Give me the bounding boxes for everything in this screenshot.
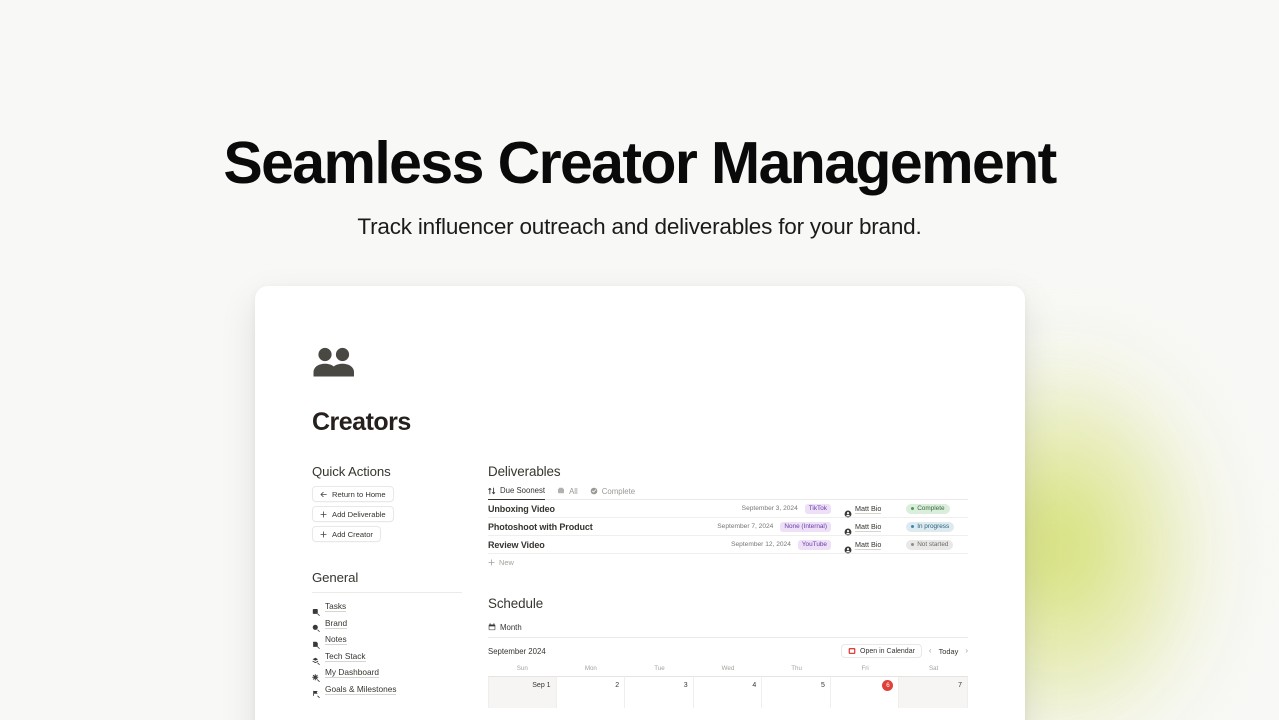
deliverable-row[interactable]: Photoshoot with Product September 7, 202… — [488, 518, 968, 536]
people-icon — [312, 345, 354, 377]
stack-icon — [312, 652, 320, 660]
deliverable-person-name: Matt Bio — [855, 540, 881, 550]
arrow-left-icon — [320, 491, 327, 498]
sidebar-item-label: Notes — [325, 634, 347, 645]
sidebar-item-goals-milestones[interactable]: Goals & Milestones — [312, 684, 467, 695]
weekday-label: Sun — [488, 662, 557, 676]
calendar-weekday-header: Sun Mon Tue Wed Thu Fri Sat — [488, 662, 968, 676]
calendar-controls: Open in Calendar ‹ Today › — [841, 644, 968, 658]
day-number: 4 — [752, 680, 756, 691]
open-in-calendar-label: Open in Calendar — [860, 648, 915, 655]
status-dot-icon — [911, 543, 914, 546]
calendar-toolbar: September 2024 Open in Calendar ‹ Today — [488, 638, 968, 662]
deliverable-row[interactable]: Review Video September 12, 2024 YouTube … — [488, 536, 968, 554]
deliverable-person[interactable]: Matt Bio — [844, 540, 906, 550]
tab-label: Complete — [602, 487, 635, 496]
deliverable-meta: September 3, 2024 TikTok — [691, 504, 831, 514]
main-column: Deliverables Due Soonest All — [488, 464, 968, 708]
page-title: Seamless Creator Management — [0, 128, 1279, 198]
plus-icon — [488, 559, 495, 566]
tab-label: All — [569, 487, 578, 496]
deliverable-status-cell: Complete — [906, 504, 968, 514]
sidebar-item-my-dashboard[interactable]: My Dashboard — [312, 667, 467, 678]
sidebar-item-tasks[interactable]: Tasks — [312, 601, 467, 612]
sidebar-item-label: My Dashboard — [325, 667, 379, 678]
calendar-day-cell[interactable]: 7 — [899, 676, 968, 708]
note-icon — [312, 636, 320, 644]
day-number: Sep 1 — [532, 680, 550, 691]
calendar-month-label: September 2024 — [488, 647, 546, 656]
next-month-button[interactable]: › — [965, 647, 968, 655]
sidebar-item-brand[interactable]: Brand — [312, 618, 467, 629]
deliverable-name: Photoshoot with Product — [488, 522, 691, 532]
deliverable-name: Unboxing Video — [488, 504, 691, 514]
sparkle-icon — [312, 669, 320, 677]
day-number-today: 6 — [882, 680, 893, 691]
person-avatar-icon — [844, 505, 852, 513]
background-glow-secondary — [990, 330, 1279, 720]
deliverable-person[interactable]: Matt Bio — [844, 504, 906, 514]
return-to-home-button[interactable]: Return to Home — [312, 486, 394, 502]
tab-all[interactable]: All — [557, 487, 578, 500]
page-subtitle: Track influencer outreach and deliverabl… — [0, 212, 1279, 242]
status-badge: Not started — [906, 540, 953, 550]
status-dot-icon — [911, 507, 914, 510]
return-to-home-label: Return to Home — [332, 490, 386, 499]
status-label: Not started — [917, 541, 948, 548]
deliverables-tabs: Due Soonest All Complete — [488, 486, 968, 500]
sort-icon — [488, 487, 496, 495]
database-icon — [557, 487, 565, 495]
status-badge: Complete — [906, 504, 950, 514]
calendar-day-cell[interactable]: 4 — [694, 676, 763, 708]
palette-icon — [312, 619, 320, 627]
page-root: Seamless Creator Management Track influe… — [0, 0, 1279, 720]
day-number: 5 — [821, 680, 825, 691]
calendar-nav: ‹ Today › — [929, 647, 968, 656]
deliverable-meta: September 7, 2024 None (Internal) — [691, 522, 831, 532]
status-label: In progress — [917, 523, 949, 530]
calendar-view-mode-label: Month — [500, 623, 522, 632]
sidebar-item-label: Goals & Milestones — [325, 684, 396, 695]
day-number: 3 — [684, 680, 688, 691]
today-button[interactable]: Today — [939, 647, 959, 656]
calendar-day-cell[interactable]: Sep 1 — [488, 676, 557, 708]
sidebar-column: Quick Actions Return to Home Add Deliver… — [312, 464, 467, 695]
deliverable-meta: September 12, 2024 YouTube — [691, 540, 831, 550]
sidebar-item-tech-stack[interactable]: Tech Stack — [312, 651, 467, 662]
deliverable-date: September 7, 2024 — [717, 523, 773, 530]
app-preview-card: Creators Quick Actions Return to Home Ad… — [255, 286, 1025, 720]
open-in-calendar-button[interactable]: Open in Calendar — [841, 644, 922, 658]
sidebar-item-label: Tech Stack — [325, 651, 366, 662]
calendar-day-cell[interactable]: 5 — [762, 676, 831, 708]
quick-actions-list: Return to Home Add Deliverable Add Creat… — [312, 486, 467, 542]
calendar-day-cell[interactable]: 3 — [625, 676, 694, 708]
weekday-label: Fri — [831, 662, 900, 676]
prev-month-button[interactable]: ‹ — [929, 647, 932, 655]
add-new-deliverable-button[interactable]: New — [488, 554, 968, 570]
deliverable-date: September 12, 2024 — [731, 541, 791, 548]
weekday-label: Sat — [899, 662, 968, 676]
weekday-label: Thu — [762, 662, 831, 676]
check-circle-icon — [590, 487, 598, 495]
deliverable-row[interactable]: Unboxing Video September 3, 2024 TikTok … — [488, 500, 968, 518]
sidebar-item-notes[interactable]: Notes — [312, 634, 467, 645]
status-badge: In progress — [906, 522, 954, 532]
plus-icon — [320, 511, 327, 518]
calendar-day-cell-today[interactable]: 6 — [831, 676, 900, 708]
add-deliverable-button[interactable]: Add Deliverable — [312, 506, 394, 522]
deliverable-platform-tag: None (Internal) — [780, 522, 831, 532]
weekday-label: Tue — [625, 662, 694, 676]
deliverable-person[interactable]: Matt Bio — [844, 522, 906, 532]
deliverables-heading: Deliverables — [488, 464, 968, 479]
deliverable-date: September 3, 2024 — [742, 505, 798, 512]
deliverable-person-name: Matt Bio — [855, 522, 881, 532]
checklist-icon — [312, 603, 320, 611]
schedule-section: Schedule Month September 2024 — [488, 596, 968, 708]
calendar-widget: September 2024 Open in Calendar ‹ Today — [488, 637, 968, 708]
calendar-icon — [488, 623, 496, 631]
day-number: 2 — [615, 680, 619, 691]
sidebar-item-label: Tasks — [325, 601, 346, 612]
general-section: General Tasks Brand — [312, 570, 467, 695]
deliverables-list: Unboxing Video September 3, 2024 TikTok … — [488, 500, 968, 570]
schedule-heading: Schedule — [488, 596, 968, 611]
weekday-label: Mon — [557, 662, 626, 676]
plus-icon — [320, 531, 327, 538]
deliverable-platform-tag: YouTube — [798, 540, 831, 550]
calendar-day-cell[interactable]: 2 — [557, 676, 626, 708]
deliverable-person-name: Matt Bio — [855, 504, 881, 514]
add-new-label: New — [499, 558, 514, 567]
calendar-red-icon — [848, 647, 856, 655]
person-avatar-icon — [844, 541, 852, 549]
add-deliverable-label: Add Deliverable — [332, 510, 386, 519]
creators-heading: Creators — [312, 408, 411, 437]
quick-actions-heading: Quick Actions — [312, 464, 467, 479]
general-divider — [312, 592, 462, 593]
status-label: Complete — [917, 505, 944, 512]
target-icon — [312, 685, 320, 693]
general-heading: General — [312, 570, 467, 585]
person-avatar-icon — [844, 523, 852, 531]
add-creator-button[interactable]: Add Creator — [312, 526, 381, 542]
status-dot-icon — [911, 525, 914, 528]
weekday-label: Wed — [694, 662, 763, 676]
tab-complete[interactable]: Complete — [590, 487, 635, 500]
day-number: 7 — [958, 680, 962, 691]
sidebar-item-label: Brand — [325, 618, 347, 629]
add-creator-label: Add Creator — [332, 530, 373, 539]
deliverable-name: Review Video — [488, 540, 691, 550]
deliverable-platform-tag: TikTok — [805, 504, 831, 514]
calendar-view-mode-button[interactable]: Month — [488, 623, 522, 637]
calendar-day-grid: Sep 1 2 3 4 5 — [488, 676, 968, 708]
deliverable-status-cell: In progress — [906, 522, 968, 532]
deliverable-status-cell: Not started — [906, 540, 968, 550]
tab-label: Due Soonest — [500, 486, 545, 495]
hero-section: Seamless Creator Management Track influe… — [0, 0, 1279, 242]
general-list: Tasks Brand Notes — [312, 601, 467, 695]
tab-due-soonest[interactable]: Due Soonest — [488, 486, 545, 500]
